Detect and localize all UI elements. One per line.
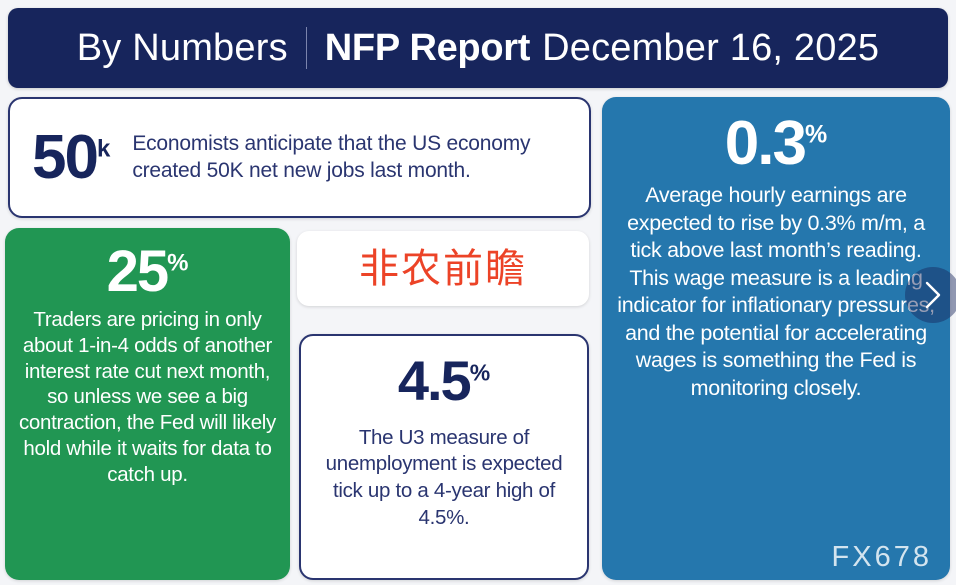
stat-card-earnings: 0.3% Average hourly earnings are expecte…: [602, 97, 950, 580]
stat-suffix-unemployment: %: [470, 359, 490, 385]
watermark-fx678: FX678: [832, 543, 932, 572]
stat-card-jobs: 50k Economists anticipate that the US ec…: [8, 97, 591, 218]
infographic-canvas: By Numbers NFP Report December 16, 2025 …: [0, 0, 956, 585]
stat-value-earnings: 0.3%: [614, 111, 938, 176]
chevron-right-icon: [922, 280, 944, 310]
stat-value-rate-cut: 25%: [15, 242, 280, 303]
chinese-title-card: 非农前瞻: [297, 231, 589, 306]
stat-number-earnings: 0.3: [725, 109, 805, 178]
header-brand: By Numbers: [77, 29, 288, 67]
stat-suffix-earnings: %: [805, 120, 827, 148]
stat-card-unemployment: 4.5% The U3 measure of unemployment is e…: [299, 334, 589, 580]
header-date: December 16, 2025: [542, 29, 879, 67]
stat-number-unemployment: 4.5: [398, 349, 470, 412]
stat-body-earnings: Average hourly earnings are expected to …: [614, 182, 938, 402]
header-report-name: NFP Report: [325, 29, 530, 67]
stat-number-rate-cut: 25: [107, 239, 168, 304]
stat-suffix-jobs: k: [97, 135, 110, 162]
chinese-title-text: 非农前瞻: [359, 249, 527, 289]
stat-number-jobs: 50: [32, 123, 97, 192]
stat-body-rate-cut: Traders are pricing in only about 1-in-4…: [15, 307, 280, 488]
header-bar: By Numbers NFP Report December 16, 2025: [8, 8, 948, 88]
stat-value-unemployment: 4.5%: [315, 352, 573, 411]
stat-body-jobs: Economists anticipate that the US econom…: [132, 131, 575, 185]
stat-value-jobs: 50k: [32, 127, 110, 189]
stat-suffix-rate-cut: %: [167, 250, 188, 277]
stat-card-rate-cut: 25% Traders are pricing in only about 1-…: [5, 228, 290, 580]
header-divider: [306, 27, 307, 69]
carousel-next-button[interactable]: [905, 267, 956, 323]
stat-body-unemployment: The U3 measure of unemployment is expect…: [315, 425, 573, 532]
